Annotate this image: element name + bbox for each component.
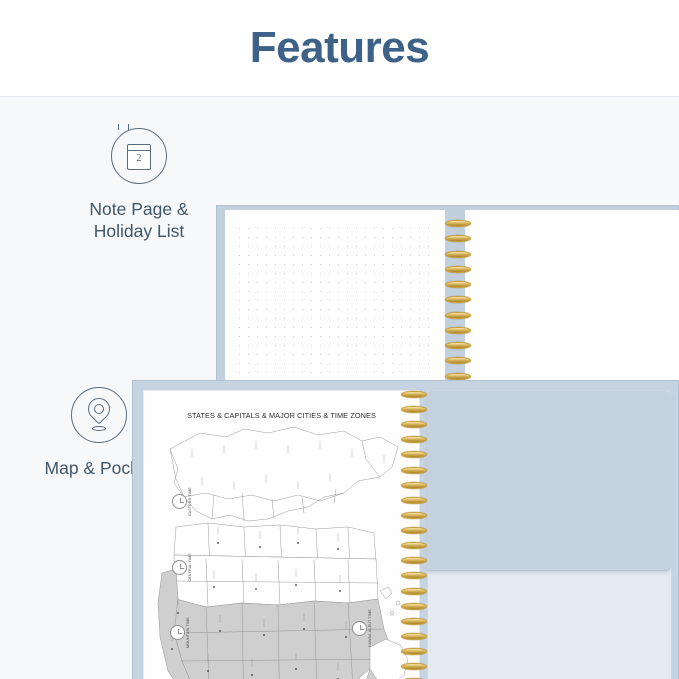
- spiral-coil: [445, 251, 471, 258]
- spiral-coil: [401, 436, 427, 443]
- calendar-number: 2: [128, 153, 150, 164]
- spiral-coil: [401, 633, 427, 640]
- calendar-ring-right: [128, 124, 129, 130]
- time-zone-marker-eastern: EASTERN TIME: [172, 487, 196, 516]
- spiral-coil: [401, 618, 427, 625]
- time-zone-marker-hawaii: HAWAII-ALEUT TIME: [352, 609, 380, 647]
- spiral-coil: [401, 512, 427, 519]
- notebook-open-bottom: STATES & CAPITALS & MAJOR CITIES & TIME …: [132, 380, 679, 679]
- spiral-coil: [445, 266, 471, 273]
- feature-note-page-holiday-list: 2 Note Page & Holiday List: [39, 128, 239, 243]
- features-header: Features: [0, 0, 679, 96]
- spiral-coil: [401, 572, 427, 579]
- spiral-coil: [401, 588, 427, 595]
- spiral-coil: [445, 281, 471, 288]
- spiral-coil: [401, 406, 427, 413]
- pocket-page[interactable]: [427, 390, 672, 679]
- spiral-coil: [401, 557, 427, 564]
- spiral-coil: [445, 296, 471, 303]
- map-page-title: STATES & CAPITALS & MAJOR CITIES & TIME …: [144, 411, 419, 420]
- clock-icon: [170, 625, 185, 640]
- calendar-body: 2: [127, 144, 151, 170]
- note-page-dot-grid: [225, 210, 445, 391]
- clock-icon: [172, 560, 187, 575]
- pin-base: [92, 426, 106, 431]
- spiral-coil: [401, 421, 427, 428]
- time-zone-marker-mountain: MOUNTAIN TIME: [170, 617, 194, 648]
- spiral-coil: [445, 373, 471, 380]
- spiral-coil: [445, 220, 471, 227]
- time-zone-label: CENTRAL TIME: [188, 553, 192, 582]
- clock-icon: [352, 621, 367, 636]
- spiral-coil: [445, 327, 471, 334]
- spiral-coil: [401, 527, 427, 534]
- time-zone-label: EASTERN TIME: [188, 487, 192, 516]
- spiral-coil: [445, 357, 471, 364]
- spiral-binding-top: [445, 206, 471, 394]
- spiral-coil: [401, 542, 427, 549]
- page-title: Features: [250, 23, 429, 73]
- map-pin-icon: [71, 387, 127, 443]
- spiral-coil: [401, 603, 427, 610]
- spiral-coil: [401, 482, 427, 489]
- spiral-coil: [401, 467, 427, 474]
- holiday-list-page: Holiday20262027 New Year's DayJan-01Jan-…: [465, 210, 679, 391]
- spiral-coil: [401, 648, 427, 655]
- spiral-coil: [445, 342, 471, 349]
- features-panel: 2 Note Page & Holiday List Map & Pocket: [0, 96, 679, 679]
- map-pin-glyph: [88, 398, 110, 428]
- feature-note-label-line1: Note Page &: [39, 198, 239, 220]
- dot-grid-pattern: [235, 224, 433, 379]
- time-zone-label: MOUNTAIN TIME: [186, 617, 190, 648]
- notebook-open-top: Holiday20262027 New Year's DayJan-01Jan-…: [216, 205, 679, 395]
- time-zone-label: HAWAII-ALEUT TIME: [368, 609, 372, 647]
- calendar-icon: 2: [111, 128, 167, 184]
- clock-icon: [172, 494, 187, 509]
- time-zone-marker-central: CENTRAL TIME: [172, 553, 196, 582]
- spiral-coil: [401, 451, 427, 458]
- spiral-coil: [445, 235, 471, 242]
- feature-note-label-line2: Holiday List: [39, 220, 239, 242]
- pocket-flap[interactable]: [428, 391, 671, 571]
- spiral-binding-bottom: [401, 381, 427, 679]
- spiral-coil: [401, 391, 427, 398]
- spiral-coil: [401, 497, 427, 504]
- calendar-ring-left: [118, 124, 119, 130]
- spiral-coil: [445, 312, 471, 319]
- pin-dot: [94, 404, 104, 414]
- spiral-coil: [401, 663, 427, 670]
